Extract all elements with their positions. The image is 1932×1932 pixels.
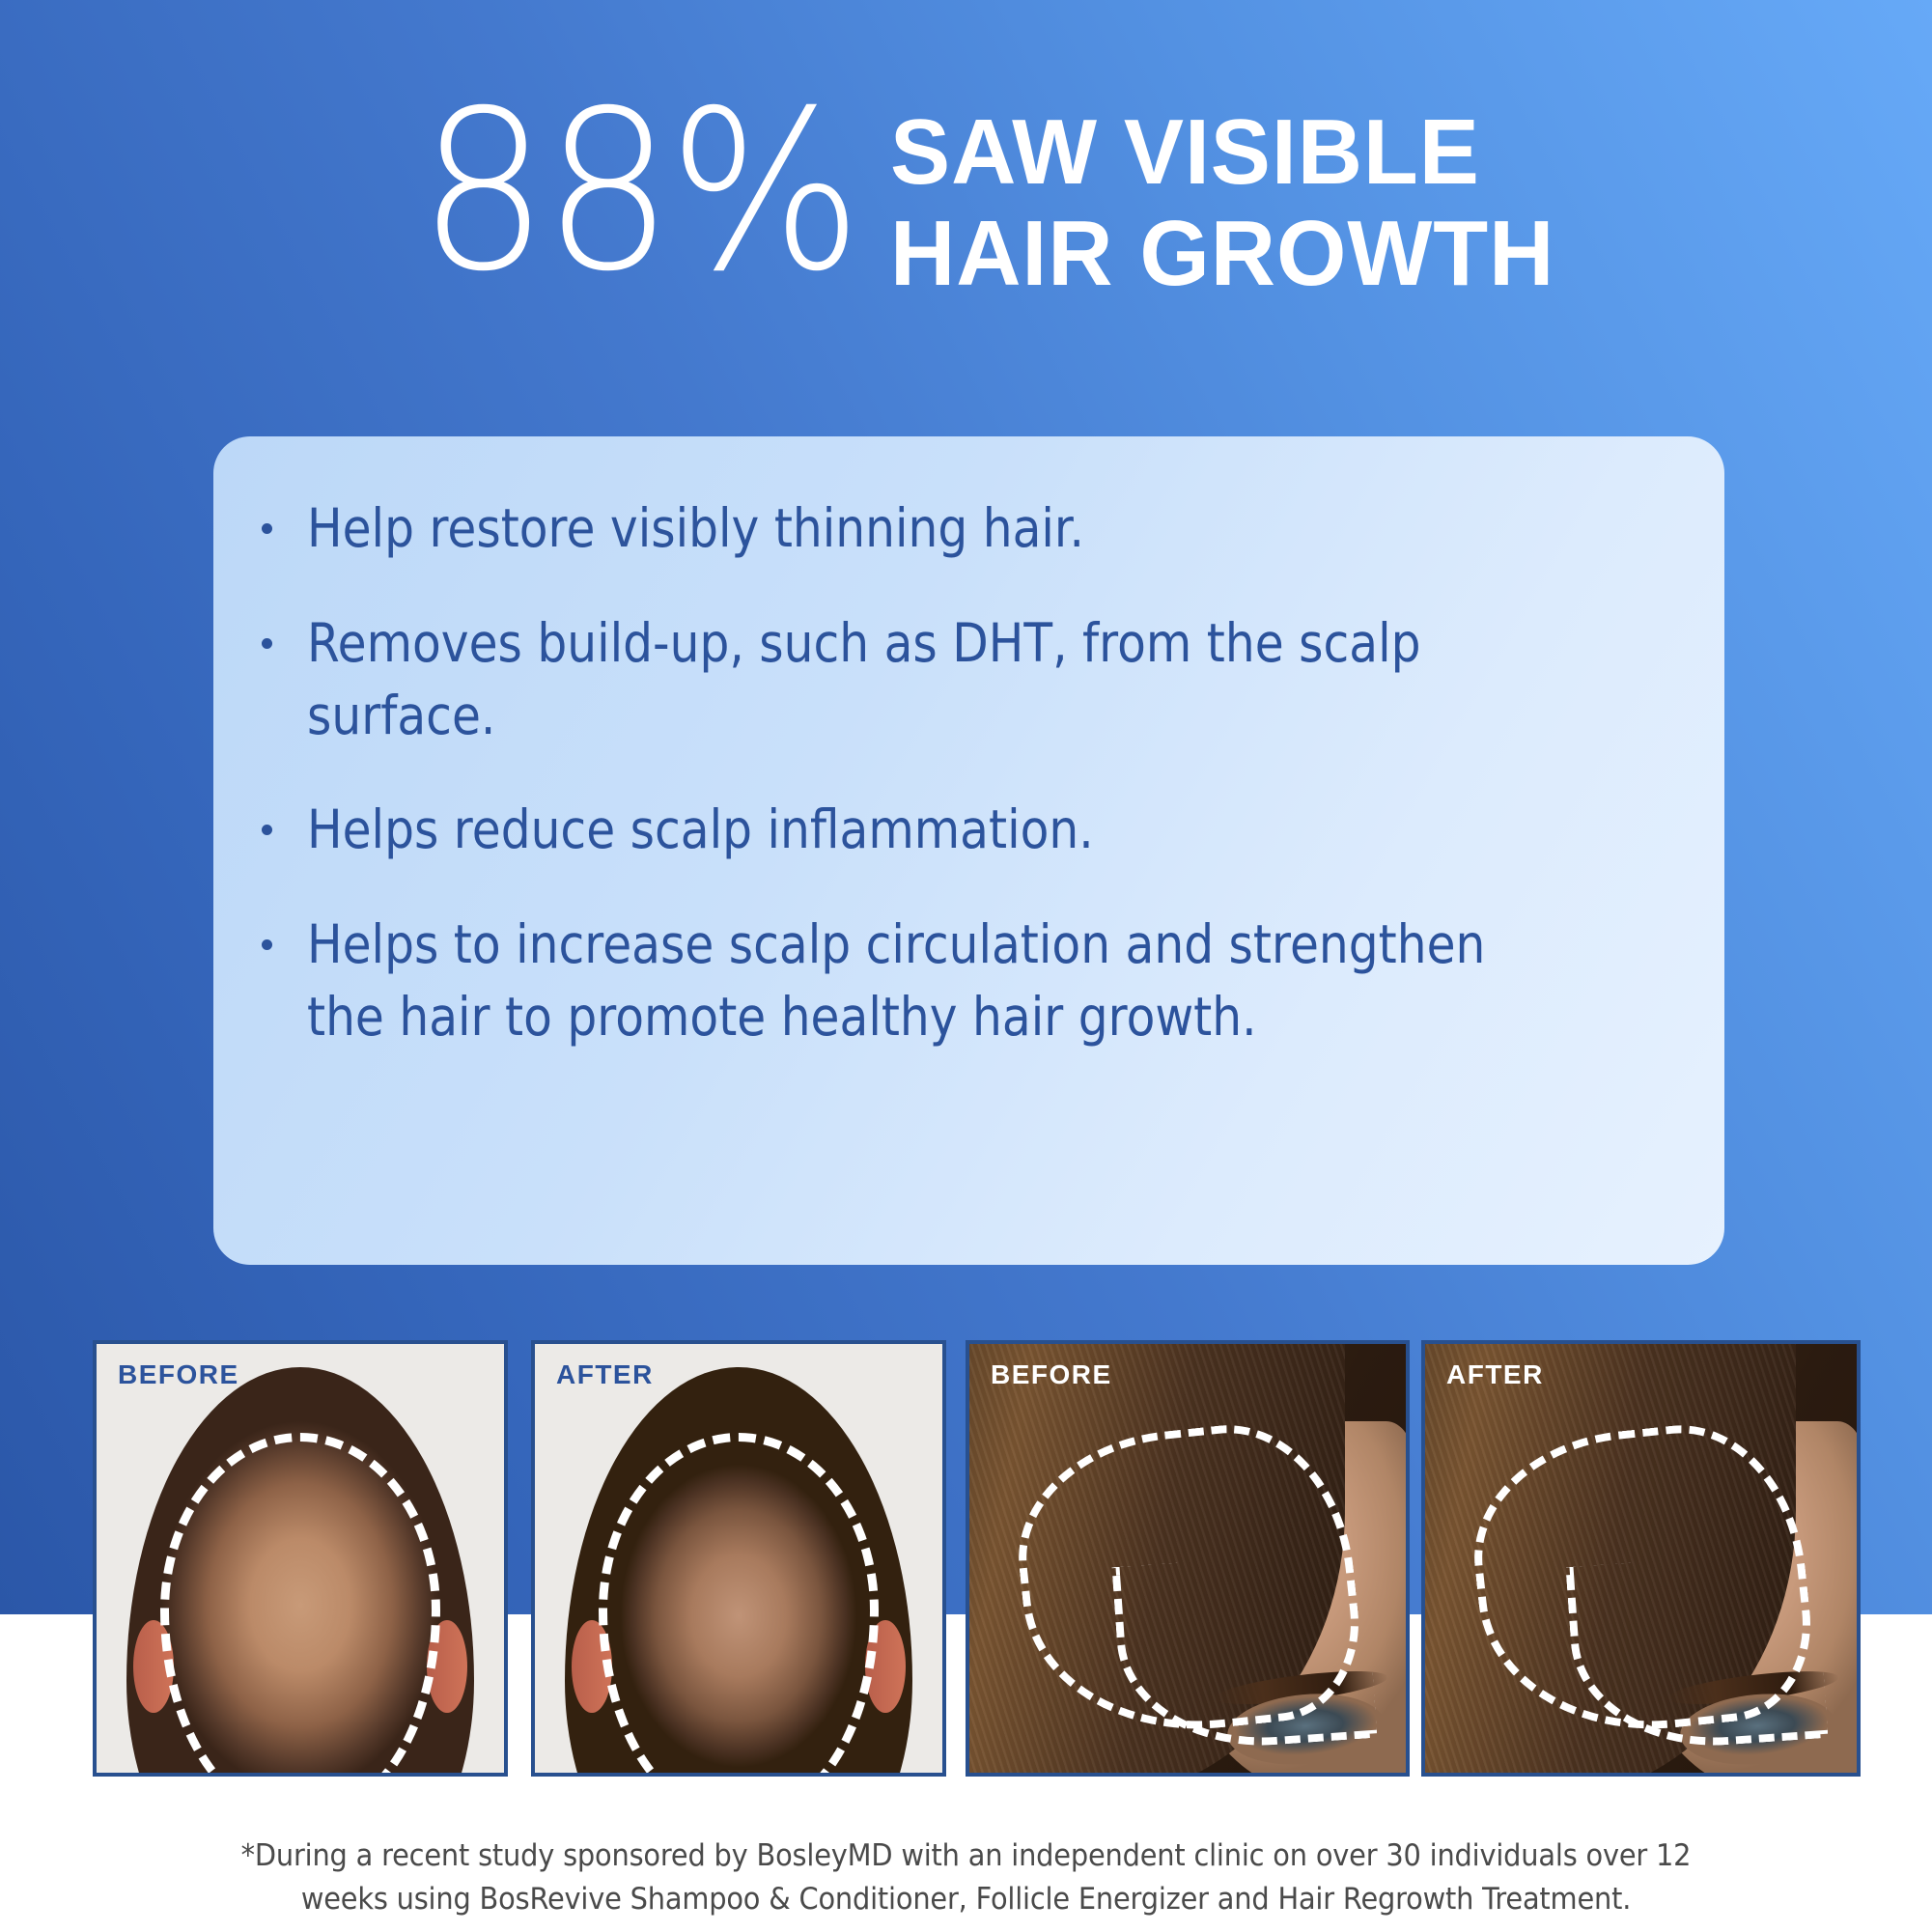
treatment-area-outline — [160, 1433, 440, 1777]
promo-poster: 88% SAW VISIBLE HAIR GROWTH Help restore… — [0, 0, 1932, 1932]
bullet-dot-icon — [262, 825, 272, 835]
benefit-text: Removes build-up, such as DHT, from the … — [307, 607, 1501, 752]
photo-male-crown-before — [97, 1344, 504, 1773]
stat-percent: 88% — [419, 87, 858, 296]
result-panel-female-after: AFTER — [1421, 1340, 1861, 1777]
list-item: Removes build-up, such as DHT, from the … — [262, 607, 1657, 752]
list-item: Helps to increase scalp circulation and … — [262, 909, 1657, 1053]
bullet-dot-icon — [262, 939, 272, 950]
headline-block: 88% SAW VISIBLE HAIR GROWTH — [0, 93, 1932, 334]
headline-lines: SAW VISIBLE HAIR GROWTH — [890, 102, 1576, 304]
bullet-dot-icon — [262, 638, 272, 649]
treatment-area-outline — [599, 1433, 879, 1777]
bullet-dot-icon — [262, 523, 272, 534]
results-photo-strip: BEFORE AFTER BEFORE — [0, 1340, 1932, 1777]
headline-line-2: HAIR GROWTH — [890, 204, 1554, 305]
panel-label: AFTER — [1446, 1359, 1544, 1390]
panel-label: BEFORE — [991, 1359, 1112, 1390]
panel-label: AFTER — [556, 1359, 654, 1390]
study-footnote: *During a recent study sponsored by Bosl… — [0, 1834, 1932, 1921]
benefit-text: Help restore visibly thinning hair. — [307, 492, 1501, 565]
photo-female-hairline-after — [1425, 1344, 1857, 1773]
benefit-text: Helps reduce scalp inflammation. — [307, 794, 1501, 866]
panel-label: BEFORE — [118, 1359, 239, 1390]
list-item: Helps reduce scalp inflammation. — [262, 794, 1657, 866]
benefits-list: Help restore visibly thinning hair. Remo… — [262, 492, 1657, 1053]
result-panel-male-after: AFTER — [531, 1340, 946, 1777]
photo-male-crown-after — [535, 1344, 942, 1773]
footnote-line-1: *During a recent study sponsored by Bosl… — [68, 1834, 1864, 1878]
benefits-card: Help restore visibly thinning hair. Remo… — [213, 436, 1724, 1265]
result-panel-male-before: BEFORE — [93, 1340, 508, 1777]
photo-female-hairline-before — [969, 1344, 1406, 1773]
list-item: Help restore visibly thinning hair. — [262, 492, 1657, 565]
benefit-text: Helps to increase scalp circulation and … — [307, 909, 1501, 1053]
result-panel-female-before: BEFORE — [966, 1340, 1410, 1777]
footnote-line-2: weeks using BosRevive Shampoo & Conditio… — [68, 1878, 1864, 1921]
headline-line-1: SAW VISIBLE — [890, 102, 1554, 204]
